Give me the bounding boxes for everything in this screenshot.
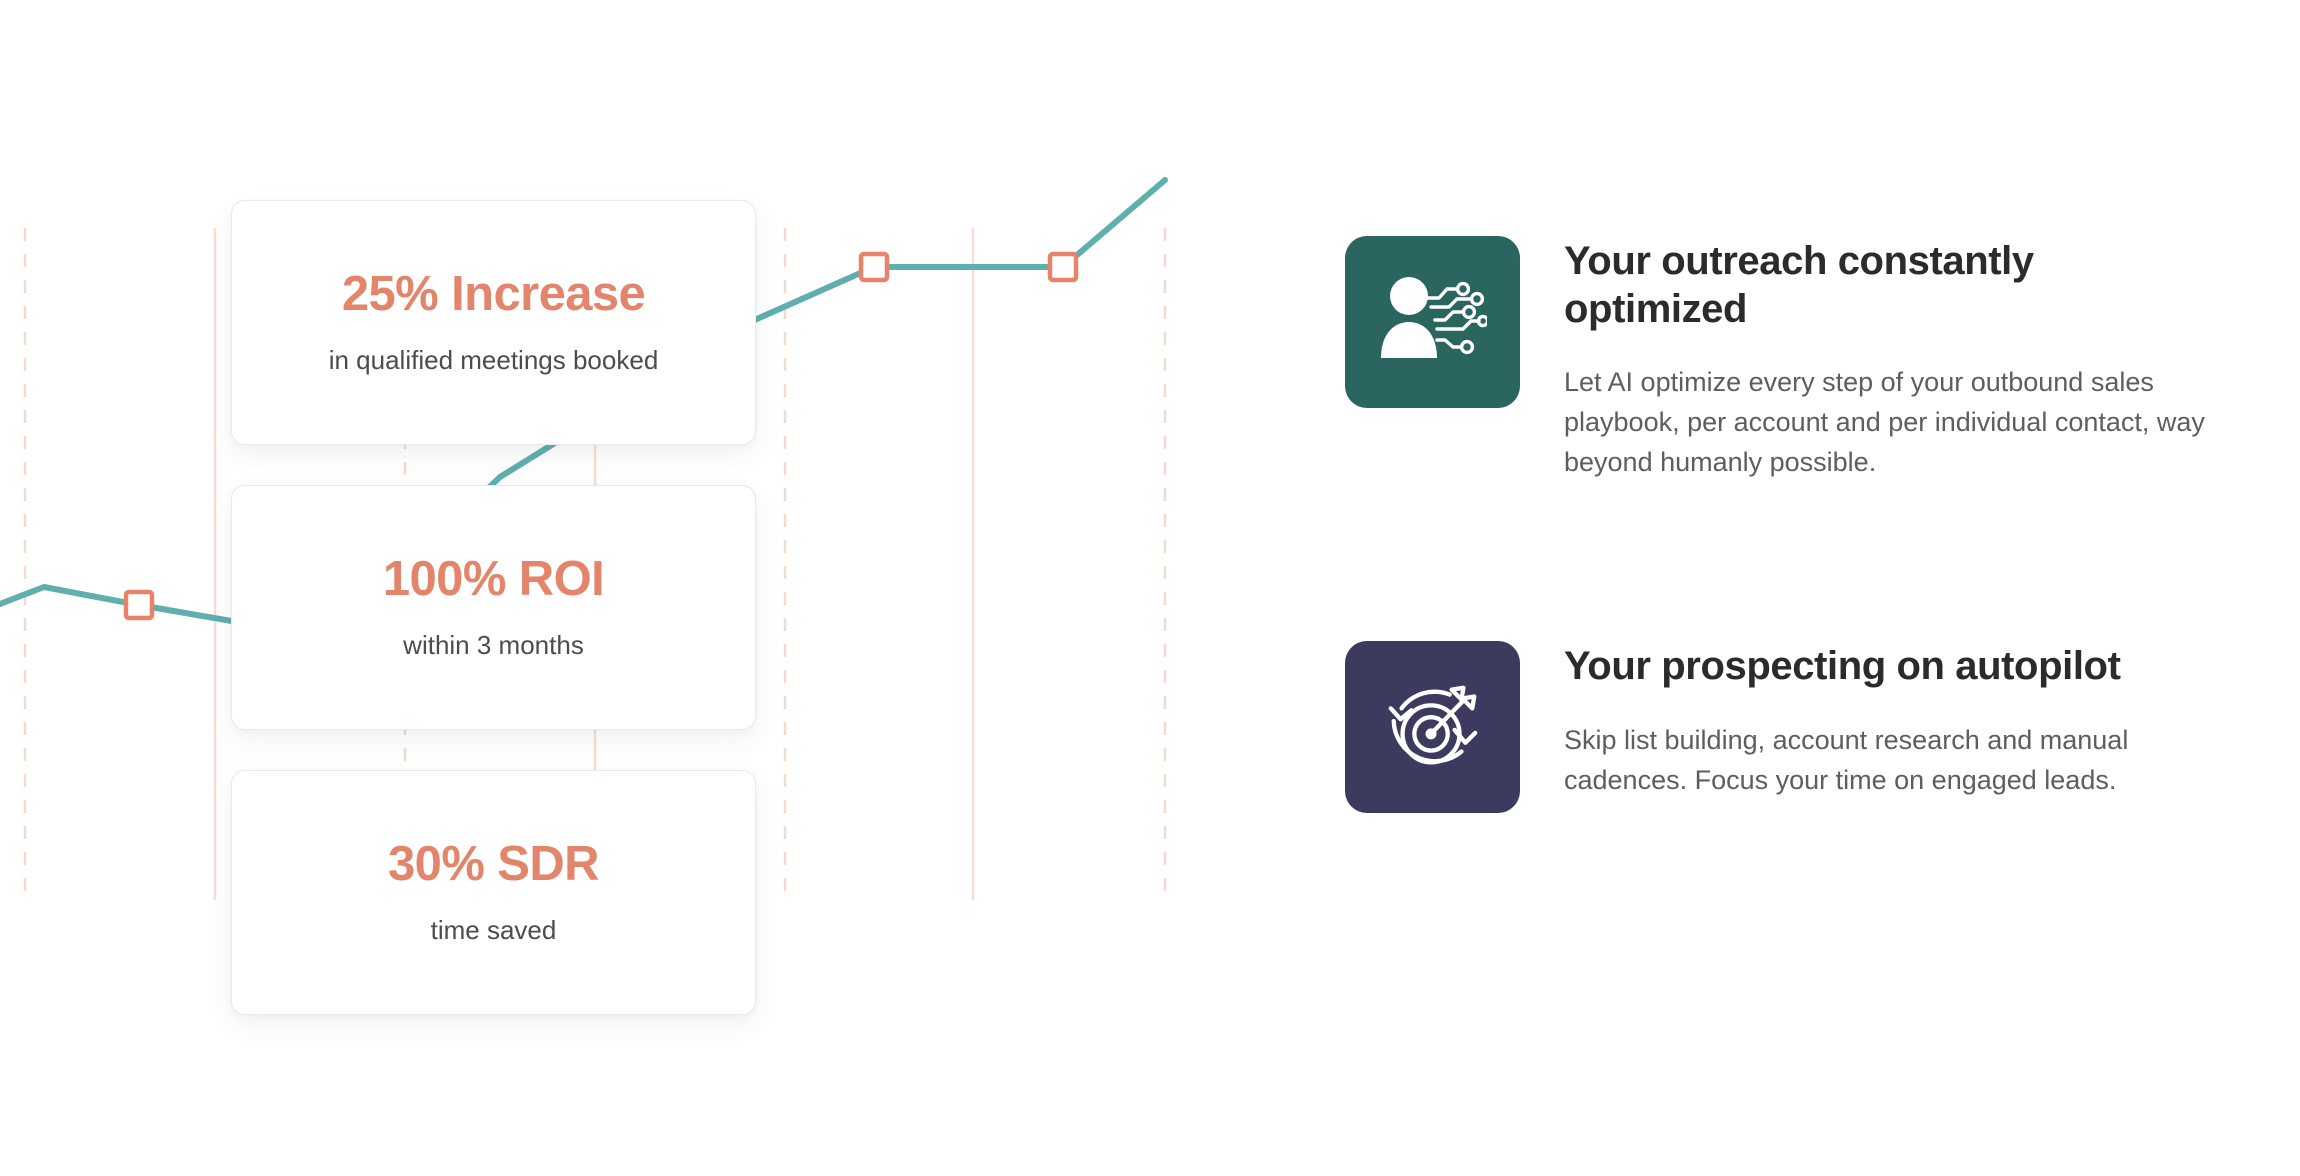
feature-title: Your prospecting on autopilot [1564, 643, 2194, 691]
stat-value: 100% ROI [383, 554, 604, 605]
feature-list: Your outreach constantly optimized Let A… [1345, 236, 2245, 813]
feature-title: Your outreach constantly optimized [1564, 238, 2194, 333]
data-point-marker [861, 254, 887, 280]
target-arrow-autopilot-glyph [1379, 673, 1487, 781]
performance-chart: 25% Increase in qualified meetings booke… [0, 0, 1180, 1176]
feature-description: Let AI optimize every step of your outbo… [1564, 363, 2245, 483]
ai-contact-network-icon [1345, 236, 1520, 408]
feature-item-prospecting-autopilot: Your prospecting on autopilot Skip list … [1345, 641, 2245, 813]
stat-value: 30% SDR [388, 839, 599, 890]
data-point-marker [1050, 254, 1076, 280]
stat-value: 25% Increase [342, 269, 645, 320]
results-feature-section: 25% Increase in qualified meetings booke… [0, 0, 2300, 1176]
stat-caption: within 3 months [403, 630, 584, 661]
stat-caption: time saved [431, 915, 557, 946]
feature-text-block: Your prospecting on autopilot Skip list … [1564, 641, 2245, 801]
ai-contact-network-glyph [1379, 272, 1487, 372]
feature-description: Skip list building, account research and… [1564, 721, 2245, 801]
stat-caption: in qualified meetings booked [329, 345, 659, 376]
feature-text-block: Your outreach constantly optimized Let A… [1564, 236, 2245, 483]
data-point-marker [126, 592, 152, 618]
stat-card: 30% SDR time saved [231, 770, 756, 1015]
stat-card: 25% Increase in qualified meetings booke… [231, 200, 756, 445]
stat-card-list: 25% Increase in qualified meetings booke… [231, 200, 756, 1055]
feature-item-outreach-optimized: Your outreach constantly optimized Let A… [1345, 236, 2245, 483]
stat-card: 100% ROI within 3 months [231, 485, 756, 730]
target-arrow-autopilot-icon [1345, 641, 1520, 813]
